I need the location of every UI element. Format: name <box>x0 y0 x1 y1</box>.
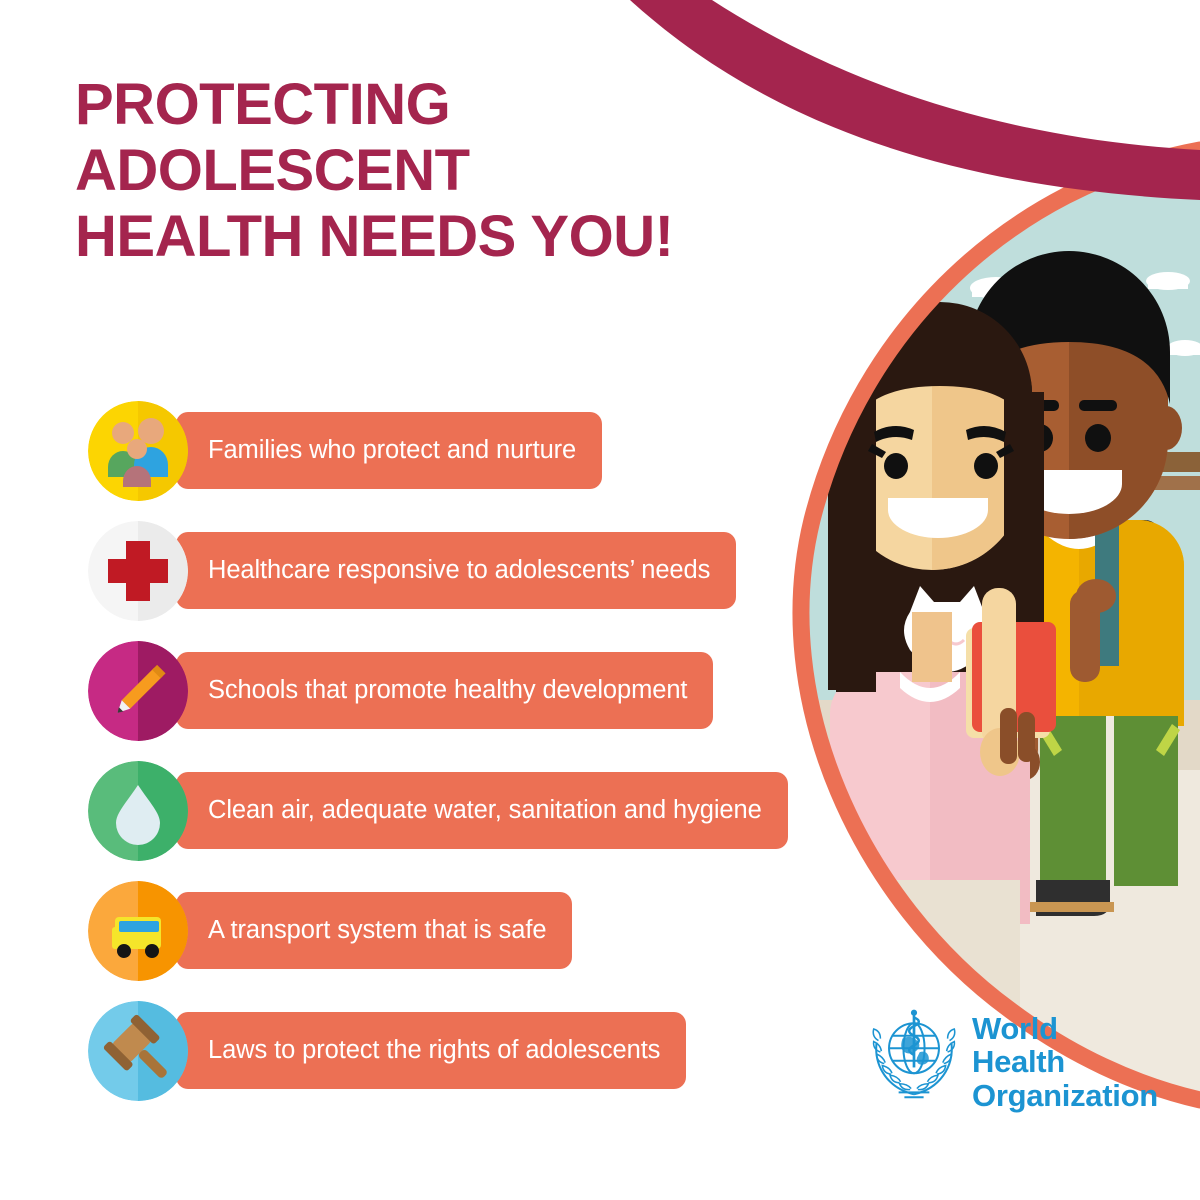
pill-bar[interactable]: Laws to protect the rights of adolescent… <box>176 1012 686 1089</box>
pill-bar[interactable]: Schools that promote healthy development <box>176 652 713 729</box>
list-item-label: Healthcare responsive to adolescents’ ne… <box>208 558 710 584</box>
list-item-label: Laws to protect the rights of adolescent… <box>208 1038 660 1064</box>
who-logo: World Health Organization <box>866 1006 1142 1102</box>
pill-bar[interactable]: Healthcare responsive to adolescents’ ne… <box>176 532 736 609</box>
page-title: PROTECTING ADOLESCENT HEALTH NEEDS YOU! <box>75 72 673 270</box>
who-logo-text: World Health Organization <box>972 1012 1158 1112</box>
list-item[interactable]: Clean air, adequate water, sanitation an… <box>88 761 948 861</box>
pencil-icon <box>88 641 188 741</box>
pillars-list: Families who protect and nurture Healthc… <box>88 401 948 1121</box>
family-icon <box>88 401 188 501</box>
pill-bar[interactable]: A transport system that is safe <box>176 892 572 969</box>
medical-cross-icon <box>88 521 188 621</box>
list-item-label: Families who protect and nurture <box>208 438 576 464</box>
bus-icon <box>88 881 188 981</box>
list-item[interactable]: Healthcare responsive to adolescents’ ne… <box>88 521 948 621</box>
list-item-label: Clean air, adequate water, sanitation an… <box>208 798 762 824</box>
list-item-label: Schools that promote healthy development <box>208 678 687 704</box>
list-item[interactable]: A transport system that is safe <box>88 881 948 981</box>
list-item[interactable]: Laws to protect the rights of adolescent… <box>88 1001 948 1101</box>
infographic-canvas: PROTECTING ADOLESCENT HEALTH NEEDS YOU! … <box>0 0 1200 1200</box>
who-emblem-icon <box>866 1006 962 1102</box>
pill-bar[interactable]: Clean air, adequate water, sanitation an… <box>176 772 788 849</box>
maroon-swoosh <box>630 0 1200 200</box>
list-item[interactable]: Schools that promote healthy development <box>88 641 948 741</box>
list-item-label: A transport system that is safe <box>208 918 546 944</box>
water-drop-icon <box>88 761 188 861</box>
pill-bar[interactable]: Families who protect and nurture <box>176 412 602 489</box>
list-item[interactable]: Families who protect and nurture <box>88 401 948 501</box>
gavel-icon <box>88 1001 188 1101</box>
